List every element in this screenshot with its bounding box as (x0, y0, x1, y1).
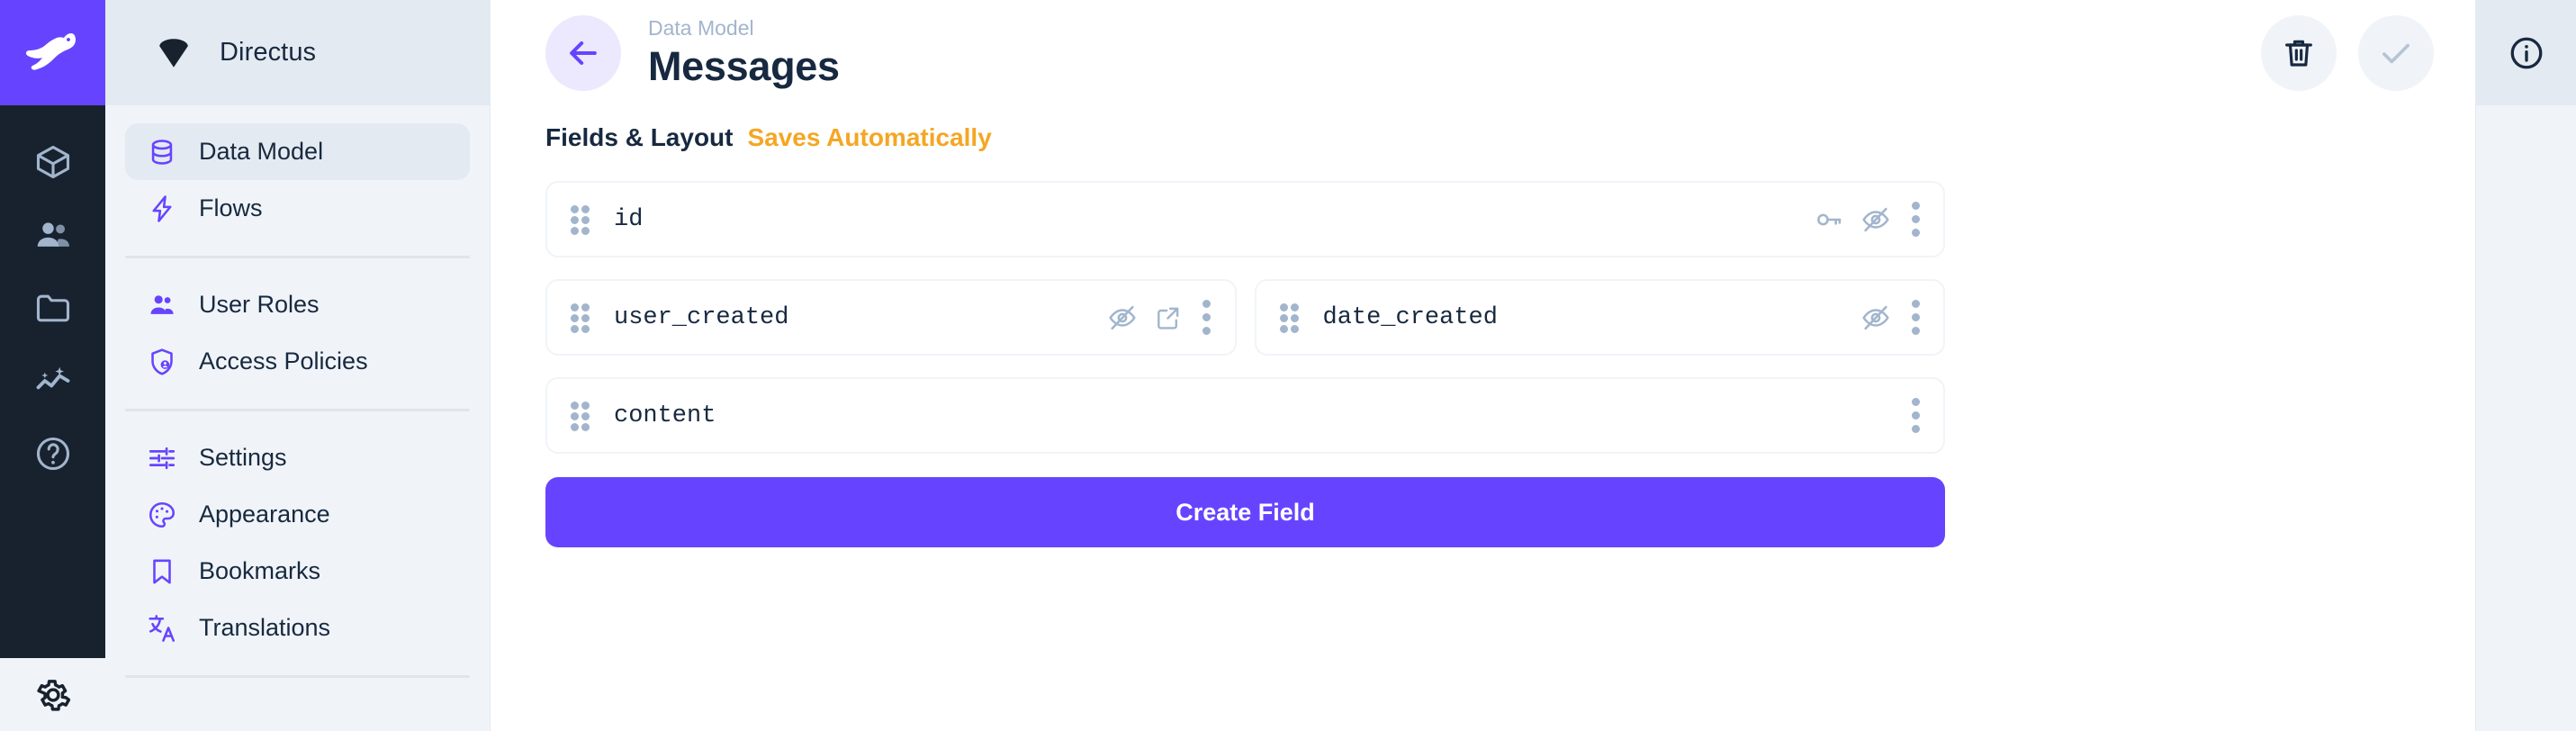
nav-header: Directus (105, 0, 490, 105)
field-card-id[interactable]: id (545, 181, 1945, 257)
nav-divider-bottom (125, 675, 470, 678)
field-card-user-created[interactable]: user_created (545, 279, 1237, 356)
bookmark-icon (145, 555, 179, 589)
fields-layout-section: Fields & Layout Saves Automatically id (491, 123, 2475, 547)
eye-off-icon[interactable] (1107, 302, 1138, 333)
field-actions (1860, 300, 1923, 335)
field-actions (1107, 300, 1215, 335)
field-row: content (545, 377, 1945, 454)
folder-icon (33, 288, 73, 328)
directus-mark-icon (155, 34, 193, 72)
fields-list: id (545, 181, 1945, 454)
sidebar-item-label: Appearance (199, 501, 330, 528)
sidebar-item-appearance[interactable]: Appearance (125, 486, 470, 543)
more-vertical-icon[interactable] (1907, 300, 1923, 335)
sliders-icon (145, 441, 179, 475)
rail-item-content[interactable] (0, 125, 105, 198)
sidebar-item-user-roles[interactable]: User Roles (125, 276, 470, 333)
page-title-block: Data Model Messages (648, 15, 840, 90)
nav-list-roles: User Roles Access Policies (105, 276, 490, 390)
module-nav-sidebar: Directus Data Model (105, 0, 491, 731)
box-icon (33, 142, 73, 182)
nav-header-title: Directus (220, 38, 316, 68)
people-icon (33, 215, 73, 255)
people-icon (145, 288, 179, 322)
gear-icon (32, 674, 74, 716)
back-button[interactable] (545, 15, 621, 91)
module-rail-items (0, 105, 105, 731)
page-header: Data Model Messages (491, 0, 2475, 105)
field-name: date_created (1323, 304, 1498, 331)
sidebar-item-settings[interactable]: Settings (125, 429, 470, 486)
module-rail (0, 0, 105, 731)
page-title: Messages (648, 43, 840, 90)
more-vertical-icon[interactable] (1907, 202, 1923, 237)
arrow-left-icon (563, 33, 603, 73)
field-name: id (614, 206, 643, 233)
sidebar-item-label: Translations (199, 614, 330, 642)
breadcrumb[interactable]: Data Model (648, 15, 840, 41)
question-circle-icon (33, 434, 73, 474)
palette-icon (145, 498, 179, 532)
sidebar-item-label: User Roles (199, 291, 320, 319)
field-name: user_created (614, 304, 788, 331)
more-vertical-icon[interactable] (1907, 398, 1923, 433)
field-name: content (614, 402, 716, 429)
section-title: Fields & Layout (545, 123, 733, 152)
sidebar-item-access-policies[interactable]: Access Policies (125, 333, 470, 390)
sidebar-item-translations[interactable]: Translations (125, 600, 470, 656)
info-circle-icon[interactable] (2508, 34, 2545, 72)
sidebar-item-data-model[interactable]: Data Model (125, 123, 470, 180)
rail-item-settings[interactable] (0, 658, 105, 731)
sidebar-item-flows[interactable]: Flows (125, 180, 470, 237)
drag-handle-icon[interactable] (1280, 303, 1300, 332)
info-sidebar-header (2476, 0, 2576, 105)
database-icon (145, 135, 179, 169)
field-actions (1907, 398, 1923, 433)
field-row: user_created (545, 279, 1945, 356)
delete-collection-button[interactable] (2261, 15, 2337, 91)
save-button[interactable] (2358, 15, 2434, 91)
trash-icon (2281, 35, 2317, 71)
sidebar-item-label: Access Policies (199, 347, 368, 375)
autosave-status: Saves Automatically (747, 123, 991, 152)
sidebar-item-label: Flows (199, 194, 263, 222)
nav-divider (125, 409, 470, 411)
sidebar-item-label: Bookmarks (199, 557, 320, 585)
sidebar-item-label: Data Model (199, 138, 323, 166)
app-root: Directus Data Model (0, 0, 2576, 731)
external-link-icon[interactable] (1154, 303, 1183, 332)
drag-handle-icon[interactable] (571, 402, 590, 430)
field-row: id (545, 181, 1945, 257)
field-actions (1814, 202, 1923, 237)
sidebar-item-label: Settings (199, 444, 287, 472)
directus-logo-button[interactable] (0, 0, 105, 105)
sidebar-item-bookmarks[interactable]: Bookmarks (125, 543, 470, 600)
nav-list-settings: Settings Appearance (105, 429, 490, 656)
info-sidebar (2475, 0, 2576, 731)
directus-rabbit-logo-icon (24, 28, 82, 78)
drag-handle-icon[interactable] (571, 205, 590, 234)
nav-divider (125, 256, 470, 258)
section-header: Fields & Layout Saves Automatically (545, 123, 2420, 152)
nav-list: Data Model Flows (105, 105, 490, 237)
more-vertical-icon[interactable] (1199, 300, 1215, 335)
translate-icon (145, 611, 179, 645)
rail-item-user-directory[interactable] (0, 198, 105, 271)
main-content: Data Model Messages (491, 0, 2475, 731)
eye-off-icon[interactable] (1860, 302, 1891, 333)
rail-item-help[interactable] (0, 417, 105, 490)
field-card-content[interactable]: content (545, 377, 1945, 454)
rail-item-file-library[interactable] (0, 271, 105, 344)
bolt-icon (145, 192, 179, 226)
shield-user-icon (145, 345, 179, 379)
key-icon[interactable] (1814, 204, 1844, 235)
field-card-date-created[interactable]: date_created (1255, 279, 1946, 356)
insights-icon (33, 361, 73, 401)
drag-handle-icon[interactable] (571, 303, 590, 332)
check-icon (2377, 34, 2415, 72)
eye-off-icon[interactable] (1860, 204, 1891, 235)
create-field-button[interactable]: Create Field (545, 477, 1945, 547)
rail-item-insights[interactable] (0, 344, 105, 417)
